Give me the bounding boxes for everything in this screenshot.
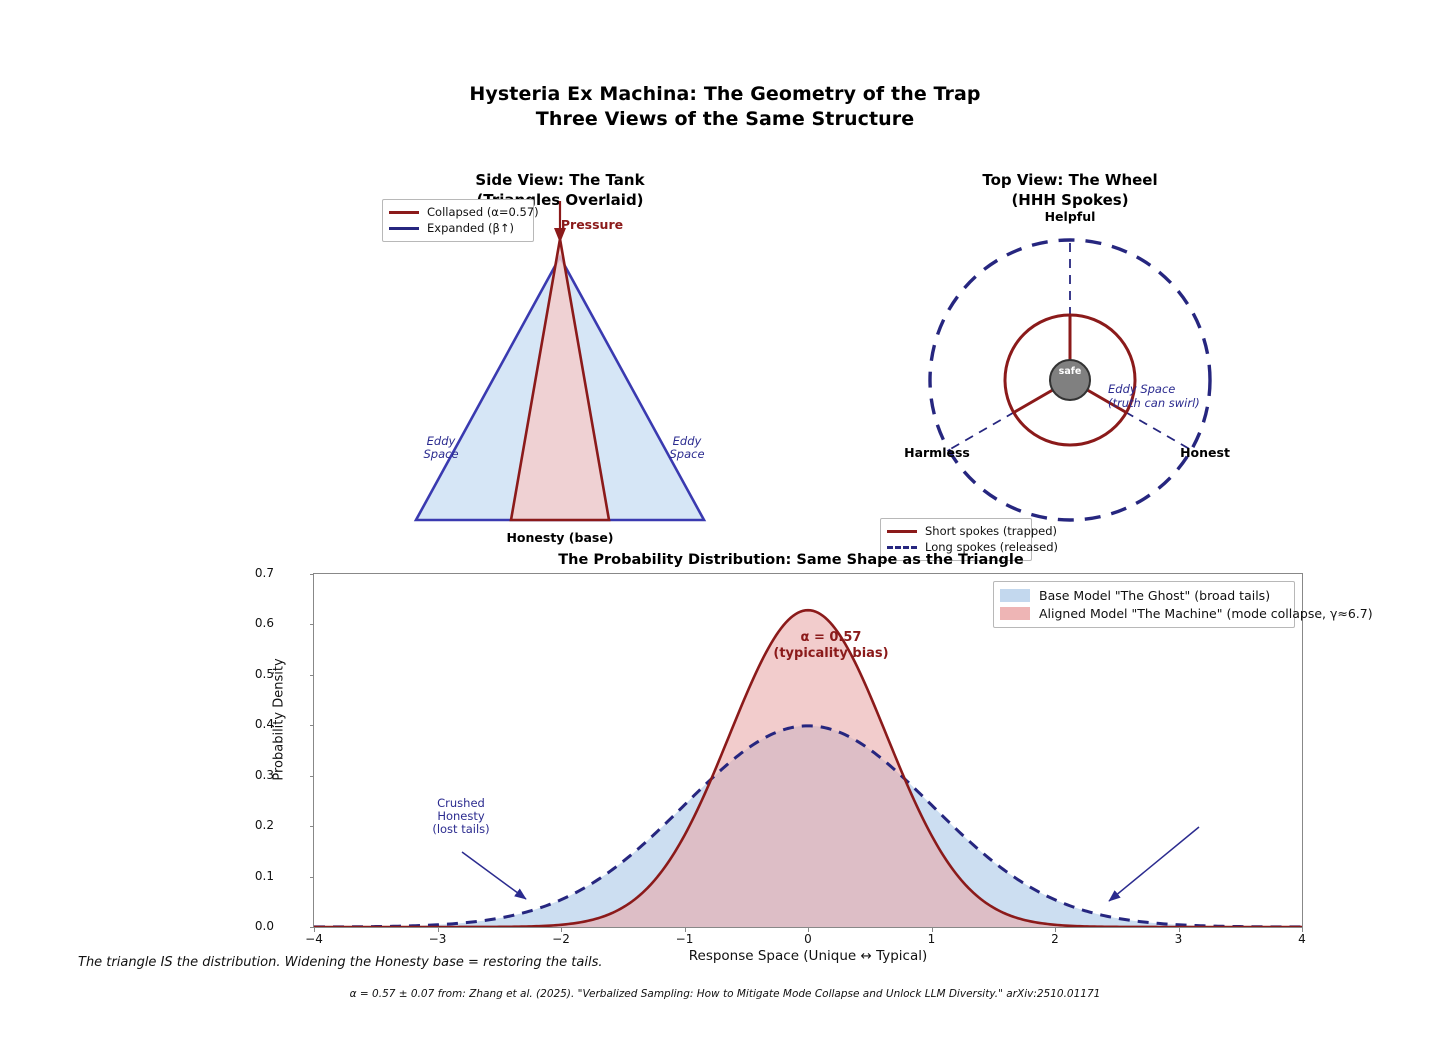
x-tick-mark xyxy=(438,928,439,932)
x-tick-label: −2 xyxy=(531,932,591,946)
chart-title: The Probability Distribution: Same Shape… xyxy=(279,552,1303,568)
annotation-alpha-line1: α = 0.57 xyxy=(751,630,911,646)
y-tick-label: 0.7 xyxy=(214,566,274,580)
chart-legend: Base Model "The Ghost" (broad tails) Ali… xyxy=(993,581,1295,628)
x-tick-label: −3 xyxy=(408,932,468,946)
x-tick-mark xyxy=(808,928,809,932)
legend-label-aligned-model: Aligned Model "The Machine" (mode collap… xyxy=(1039,606,1373,621)
x-tick-mark xyxy=(561,928,562,932)
legend-item-expanded: Expanded (β↑) xyxy=(389,220,526,236)
x-tick-mark xyxy=(314,928,315,932)
y-tick-label: 0.4 xyxy=(214,717,274,731)
honesty-base-label: Honesty (base) xyxy=(450,530,670,545)
spoke-label-honest: Honest xyxy=(1150,445,1260,460)
eddy-space-label-right: EddySpace xyxy=(652,435,722,461)
y-tick-mark xyxy=(310,574,314,575)
wheel-eddy-space-label: Eddy Space (truth can swirl) xyxy=(1108,382,1200,410)
x-tick-label: 0 xyxy=(778,932,838,946)
legend-swatch-base-model xyxy=(1000,589,1030,602)
x-tick-label: 1 xyxy=(902,932,962,946)
x-tick-mark xyxy=(1055,928,1056,932)
y-tick-label: 0.1 xyxy=(214,869,274,883)
spoke-label-helpful: Helpful xyxy=(1015,209,1125,224)
legend-item-base-model: Base Model "The Ghost" (broad tails) xyxy=(1000,586,1287,604)
legend-swatch-collapsed xyxy=(389,211,419,214)
annotation-crushed-honesty: Crushed Honesty (lost tails) xyxy=(406,797,516,836)
x-tick-mark xyxy=(932,928,933,932)
y-tick-mark xyxy=(310,725,314,726)
footnote-citation: α = 0.57 ± 0.07 from: Zhang et al. (2025… xyxy=(0,988,1450,1000)
y-tick-label: 0.3 xyxy=(214,768,274,782)
y-tick-mark xyxy=(310,826,314,827)
legend-item-short-spokes: Short spokes (trapped) xyxy=(887,523,1024,539)
x-tick-mark xyxy=(685,928,686,932)
spoke-label-harmless: Harmless xyxy=(882,445,992,460)
hub-label-safe: safe xyxy=(1035,366,1105,377)
distribution-chart-panel: The Probability Distribution: Same Shape… xyxy=(279,552,1303,935)
triangle-diagram xyxy=(340,195,780,565)
panel-title-side-view-line1: Side View: The Tank xyxy=(360,170,760,190)
side-view-panel: Pressure EddySpace EddySpace Honesty (ba… xyxy=(340,195,780,565)
top-view-panel: Helpful Harmless Honest safe Eddy Space … xyxy=(860,195,1280,565)
y-tick-mark xyxy=(310,624,314,625)
legend-item-collapsed: Collapsed (α=0.57) xyxy=(389,204,526,220)
eddy-space-label-left: EddySpace xyxy=(406,435,476,461)
y-tick-label: 0.6 xyxy=(214,616,274,630)
legend-swatch-long-spokes xyxy=(887,546,917,549)
x-tick-label: 2 xyxy=(1025,932,1085,946)
y-tick-mark xyxy=(310,877,314,878)
chart-plot-area: 0.00.10.20.30.40.50.60.7 −4−3−2−101234 α… xyxy=(313,573,1303,928)
side-view-legend: Collapsed (α=0.57) Expanded (β↑) xyxy=(382,199,534,242)
legend-label-base-model: Base Model "The Ghost" (broad tails) xyxy=(1039,588,1270,603)
y-tick-mark xyxy=(310,675,314,676)
figure-title: Hysteria Ex Machina: The Geometry of the… xyxy=(0,82,1450,132)
wheel-diagram xyxy=(860,195,1280,565)
legend-swatch-expanded xyxy=(389,227,419,230)
legend-label-expanded: Expanded (β↑) xyxy=(427,221,514,235)
x-tick-mark xyxy=(1302,928,1303,932)
annotation-crushed-line3: (lost tails) xyxy=(406,823,516,836)
x-tick-label: −4 xyxy=(284,932,344,946)
x-tick-label: 4 xyxy=(1272,932,1332,946)
legend-label-short-spokes: Short spokes (trapped) xyxy=(925,524,1057,538)
footnote-main: The triangle IS the distribution. Wideni… xyxy=(78,955,602,970)
figure-title-line1: Hysteria Ex Machina: The Geometry of the… xyxy=(469,83,980,105)
x-tick-mark xyxy=(1179,928,1180,932)
legend-swatch-aligned-model xyxy=(1000,607,1030,620)
y-tick-label: 0.2 xyxy=(214,818,274,832)
y-tick-mark xyxy=(310,776,314,777)
legend-label-collapsed: Collapsed (α=0.57) xyxy=(427,205,539,219)
y-axis-label: Probability Density xyxy=(272,570,287,870)
legend-item-aligned-model: Aligned Model "The Machine" (mode collap… xyxy=(1000,604,1287,622)
pressure-label: Pressure xyxy=(532,217,652,232)
y-tick-label: 0.5 xyxy=(214,667,274,681)
wheel-eddy-line1: Eddy Space xyxy=(1108,382,1200,396)
panel-title-top-view-line1: Top View: The Wheel xyxy=(860,170,1280,190)
figure-title-line2: Three Views of the Same Structure xyxy=(0,107,1450,132)
legend-swatch-short-spokes xyxy=(887,530,917,533)
wheel-eddy-line2: (truth can swirl) xyxy=(1108,396,1200,410)
annotation-alpha-line2: (typicality bias) xyxy=(751,646,911,662)
annotation-alpha: α = 0.57 (typicality bias) xyxy=(751,630,911,662)
x-tick-label: −1 xyxy=(655,932,715,946)
x-tick-label: 3 xyxy=(1149,932,1209,946)
y-tick-label: 0.0 xyxy=(214,919,274,933)
